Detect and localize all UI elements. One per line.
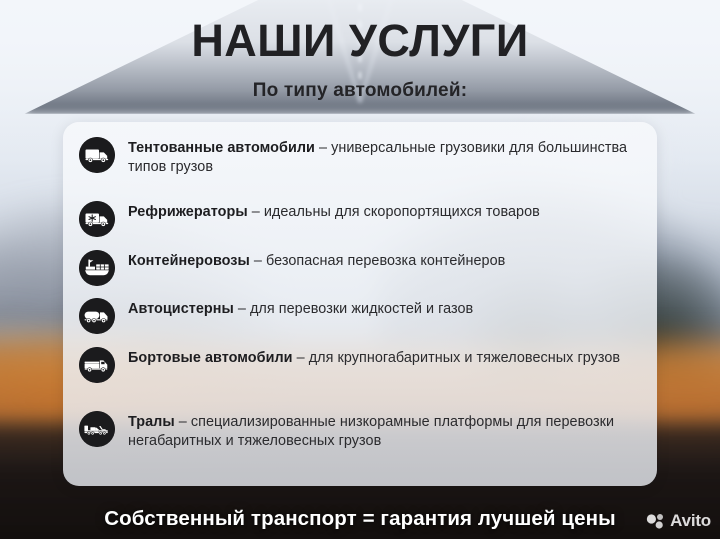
list-item-lead: Рефрижераторы [128, 204, 248, 220]
list-item-text: Рефрижераторы – идеальны для скоропортящ… [128, 199, 540, 222]
header: НАШИ УСЛУГИ По типу автомобилей: [0, 18, 720, 102]
list-item-description: – безопасная перевозка контейнеров [250, 253, 506, 269]
list-item-text: Контейнеровозы – безопасная перевозка ко… [128, 248, 505, 271]
services-card: Тентованные автомобили – универсальные г… [63, 122, 657, 486]
list-item-text: Автоцистерны – для перевозки жидкостей и… [128, 296, 473, 319]
avito-logo-icon [646, 513, 666, 530]
lowboy-trailer-icon [79, 411, 115, 447]
list-item: Тралы – специализированные низкорамные п… [79, 409, 639, 473]
list-item-text: Бортовые автомобили – для крупногабаритн… [128, 345, 620, 368]
avito-watermark: Avito [646, 511, 711, 531]
services-list: Тентованные автомобили – универсальные г… [79, 135, 639, 473]
list-item-description: – идеальны для скоропортящихся товаров [248, 204, 540, 220]
footer: Собственный транспорт = гарантия лучшей … [0, 507, 720, 531]
list-item: Автоцистерны – для перевозки жидкостей и… [79, 296, 639, 345]
tanker-truck-icon [79, 298, 115, 334]
list-item-description: – для перевозки жидкостей и газов [234, 301, 473, 317]
list-item-lead: Автоцистерны [128, 301, 234, 317]
flatbed-truck-icon [79, 347, 115, 383]
list-item-lead: Бортовые автомобили [128, 350, 293, 366]
page-title: НАШИ УСЛУГИ [0, 18, 720, 63]
container-ship-icon [79, 250, 115, 286]
footer-tagline: Собственный транспорт = гарантия лучшей … [104, 507, 615, 531]
list-item: Контейнеровозы – безопасная перевозка ко… [79, 248, 639, 297]
refrigerated-truck-icon [79, 201, 115, 237]
list-item-description: – специализированные низкорамные платфор… [128, 414, 614, 449]
avito-watermark-label: Avito [670, 511, 711, 531]
page-subtitle: По типу автомобилей: [0, 80, 720, 102]
list-item: Бортовые автомобили – для крупногабаритн… [79, 345, 639, 409]
list-item: Рефрижераторы – идеальны для скоропортящ… [79, 199, 639, 248]
promo-banner: НАШИ УСЛУГИ По типу автомобилей: [0, 0, 720, 539]
list-item-lead: Тентованные автомобили [128, 140, 315, 156]
list-item-text: Тентованные автомобили – универсальные г… [128, 135, 639, 177]
list-item-lead: Тралы [128, 414, 175, 430]
list-item-description: – для крупногабаритных и тяжеловесных гр… [293, 350, 621, 366]
list-item: Тентованные автомобили – универсальные г… [79, 135, 639, 199]
list-item-lead: Контейнеровозы [128, 253, 250, 269]
box-truck-icon [79, 137, 115, 173]
list-item-text: Тралы – специализированные низкорамные п… [128, 409, 639, 451]
